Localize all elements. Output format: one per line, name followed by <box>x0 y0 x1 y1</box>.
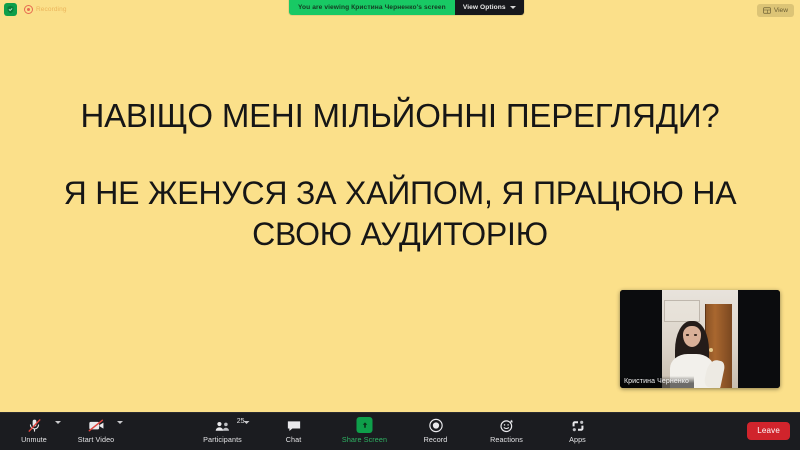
grid-icon <box>763 7 771 15</box>
chevron-down-icon <box>510 6 516 9</box>
video-scene <box>662 290 738 388</box>
toolbar-left-group: Unmute Start Video <box>8 416 122 444</box>
meeting-status-group: Recording <box>4 2 67 16</box>
view-options-label: View Options <box>463 4 506 11</box>
chat-bubble-icon <box>286 416 301 433</box>
participants-label: Participants <box>203 435 242 444</box>
unmute-button[interactable]: Unmute <box>8 416 60 444</box>
leave-meeting-button[interactable]: Leave <box>747 422 790 440</box>
participant-video-thumbnail[interactable]: Кристина Черненко <box>620 290 780 388</box>
unmute-label: Unmute <box>21 435 47 444</box>
apps-button[interactable]: Apps <box>552 416 604 444</box>
reactions-icon <box>499 416 514 433</box>
view-button-label: View <box>774 7 788 14</box>
start-video-button[interactable]: Start Video <box>70 416 122 444</box>
slide-headline-3: СВОЮ АУДИТОРІЮ <box>0 215 800 254</box>
share-screen-button[interactable]: Share Screen <box>339 416 391 444</box>
share-screen-label: Share Screen <box>342 435 387 444</box>
share-screen-icon <box>357 416 373 433</box>
record-label: Record <box>424 435 448 444</box>
participant-name-label: Кристина Черненко <box>620 376 694 388</box>
reactions-label: Reactions <box>490 435 523 444</box>
door-handle <box>709 348 713 352</box>
recording-indicator[interactable]: Recording <box>24 5 67 14</box>
sharing-banner-text: You are viewing Кристина Черненко's scre… <box>289 0 455 15</box>
record-button[interactable]: Record <box>410 416 462 444</box>
chat-label: Chat <box>286 435 302 444</box>
recording-label: Recording <box>36 6 67 13</box>
person-eye-left <box>686 334 689 336</box>
camera-off-icon <box>88 416 105 433</box>
chevron-up-icon[interactable] <box>55 421 61 424</box>
screen-sharing-banner: You are viewing Кристина Черненко's scre… <box>289 0 524 15</box>
person-eye-right <box>694 334 697 336</box>
participants-icon <box>215 416 231 433</box>
slide-headline-1: НАВІЩО МЕНІ МІЛЬЙОННІ ПЕРЕГЛЯДИ? <box>0 96 800 136</box>
apps-icon <box>570 416 585 433</box>
zoom-meeting-window: НАВІЩО МЕНІ МІЛЬЙОННІ ПЕРЕГЛЯДИ? Я НЕ ЖЕ… <box>0 0 800 450</box>
meeting-toolbar: Unmute Start Video <box>0 412 800 450</box>
participants-button[interactable]: 25 Participants <box>197 416 249 444</box>
chevron-up-icon[interactable] <box>117 421 123 424</box>
apps-label: Apps <box>569 435 586 444</box>
record-circle-icon <box>428 416 443 433</box>
shield-check-icon[interactable] <box>4 3 17 16</box>
record-dot-icon <box>24 5 33 14</box>
view-options-button[interactable]: View Options <box>455 0 524 15</box>
wall-shelf <box>664 300 700 322</box>
toolbar-center-group: 25 Participants Chat <box>197 416 604 444</box>
microphone-muted-icon <box>27 416 42 433</box>
chevron-up-icon[interactable] <box>244 421 250 424</box>
video-feed <box>620 290 780 388</box>
start-video-label: Start Video <box>78 435 115 444</box>
reactions-button[interactable]: Reactions <box>481 416 533 444</box>
chat-button[interactable]: Chat <box>268 416 320 444</box>
view-layout-button[interactable]: View <box>757 4 794 17</box>
slide-headline-2: Я НЕ ЖЕНУСЯ ЗА ХАЙПОМ, Я ПРАЦЮЮ НА <box>0 174 800 213</box>
